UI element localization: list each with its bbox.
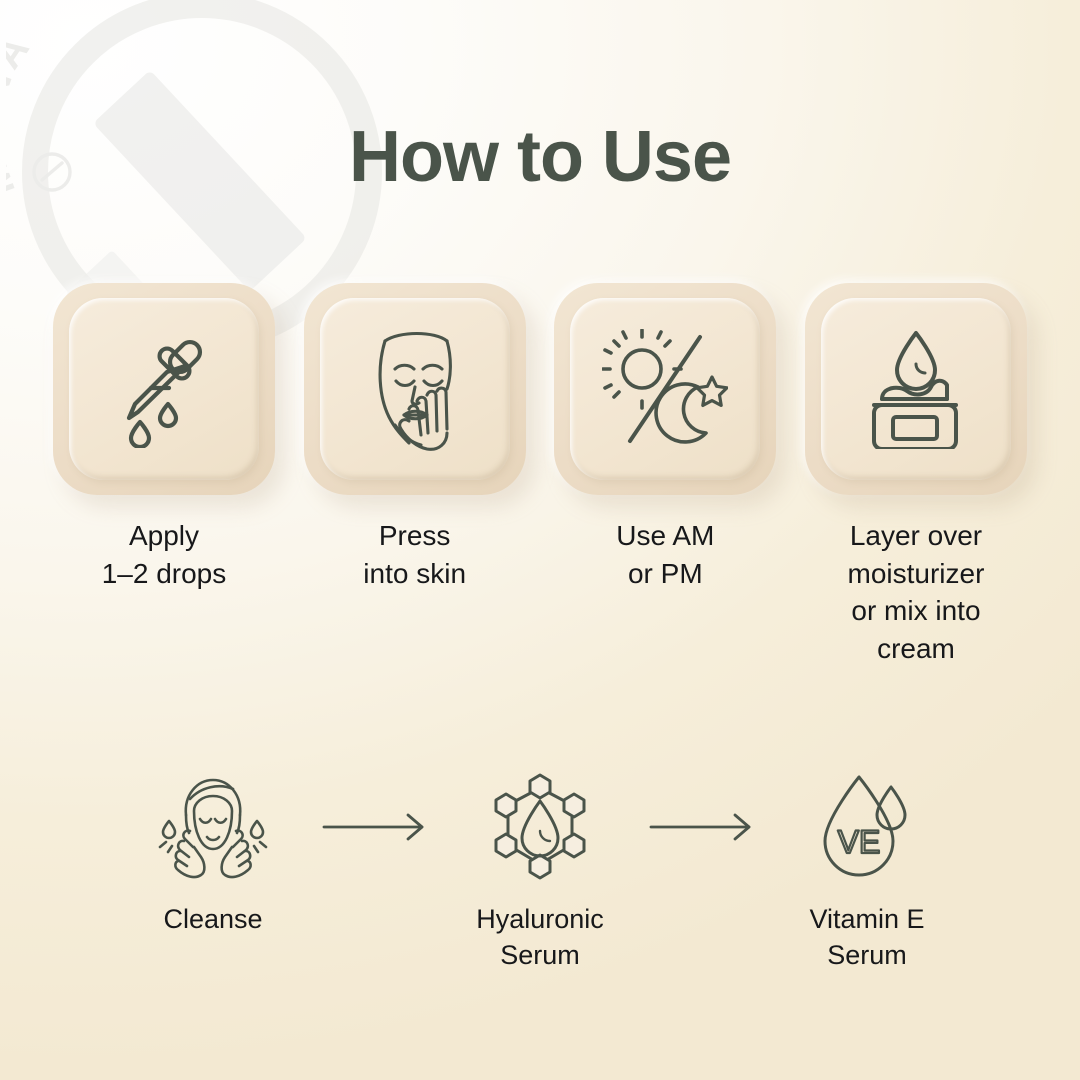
arrow-right-icon: [317, 768, 437, 886]
routine-label: Vitamin E Serum: [809, 902, 924, 974]
routine-step-vitamin-e[interactable]: VE Vitamin E Serum: [764, 768, 970, 974]
molecule-drop-icon: [486, 768, 594, 886]
step-card-row: Apply 1–2 drops: [50, 283, 1030, 667]
card-surface: [821, 298, 1011, 480]
step-card-layer[interactable]: Layer over moisturizer or mix into cream: [802, 283, 1030, 667]
face-press-icon: [351, 325, 479, 453]
dropper-icon: [105, 330, 223, 448]
step-caption: Use AM or PM: [616, 517, 714, 592]
routine-flow: Cleanse: [110, 768, 970, 974]
arrow-right-icon: [644, 768, 764, 886]
routine-step-cleanse[interactable]: Cleanse: [110, 768, 316, 938]
sun-moon-icon: [602, 329, 728, 449]
card-frame: [304, 283, 526, 495]
card-surface: [320, 298, 510, 480]
card-frame: [554, 283, 776, 495]
step-caption: Layer over moisturizer or mix into cream: [848, 517, 985, 667]
vitamin-e-drop-icon: VE: [815, 768, 919, 886]
page-title: How to Use: [0, 116, 1080, 198]
vitamin-e-badge: VE: [838, 824, 881, 860]
card-frame: [805, 283, 1027, 495]
routine-label: Cleanse: [163, 902, 262, 938]
step-card-ampm[interactable]: Use AM or PM: [551, 283, 779, 592]
routine-label: Hyaluronic Serum: [476, 902, 604, 974]
card-surface: [570, 298, 760, 480]
card-surface: [69, 298, 259, 480]
infographic-canvas: MIANA How to Use: [0, 0, 1080, 1080]
card-frame: [53, 283, 275, 495]
step-card-press[interactable]: Press into skin: [301, 283, 529, 592]
cream-jar-icon: [857, 329, 975, 449]
step-caption: Apply 1–2 drops: [102, 517, 227, 592]
routine-step-hyaluronic[interactable]: Hyaluronic Serum: [437, 768, 643, 974]
step-caption: Press into skin: [363, 517, 466, 592]
cleanse-face-icon: [153, 768, 273, 886]
step-card-apply[interactable]: Apply 1–2 drops: [50, 283, 278, 592]
